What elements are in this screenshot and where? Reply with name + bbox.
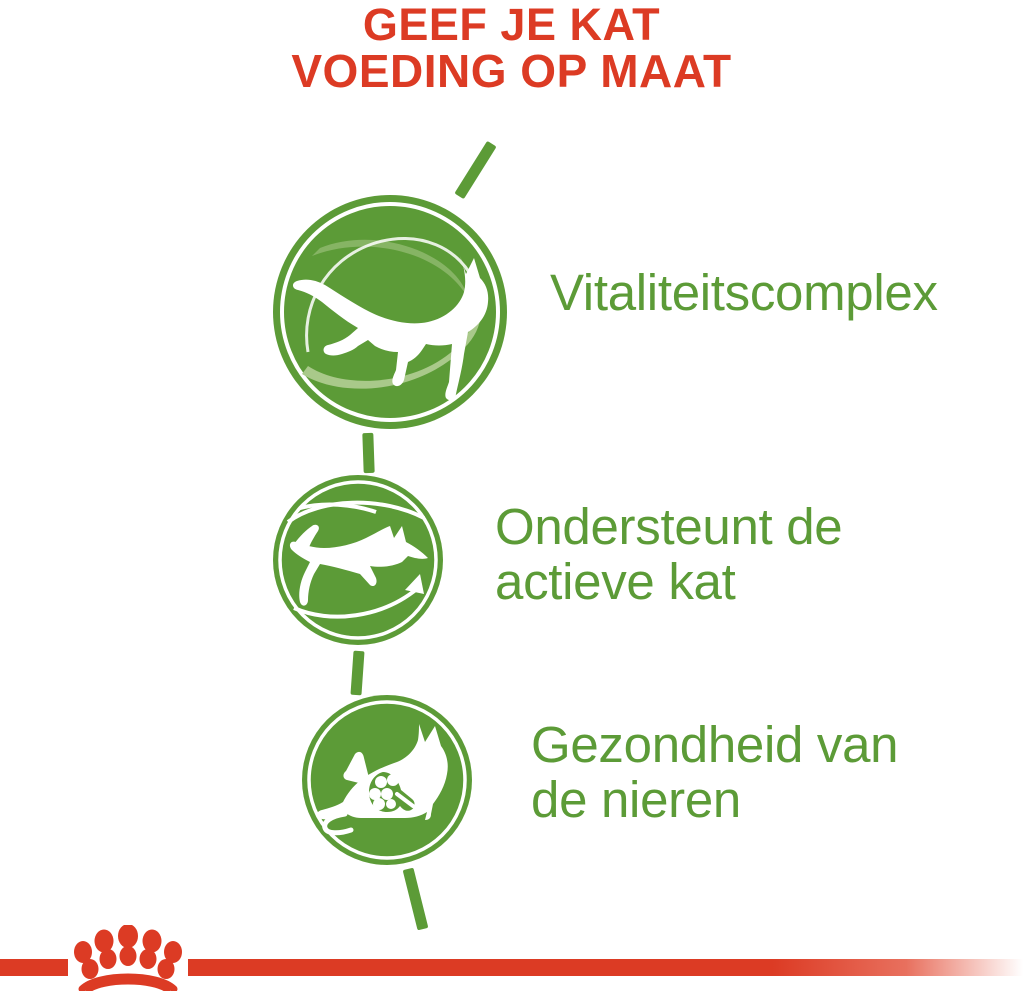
feature-item-vitality: Vitaliteitscomplex [272,194,1012,430]
title-line-2: VOEDING OP MAAT [0,48,1023,95]
feature-label-vitality: Vitaliteitscomplex [550,266,1020,321]
sitting-cat-kidney-circle-icon [301,694,473,871]
walking-cat-circle-icon [272,194,508,435]
connector-dash-1 [362,433,374,473]
feature-item-active-support: Ondersteunt de actieve kat [272,474,972,648]
brand-bar-left [0,959,68,976]
feature-label-kidney-health: Gezondheid van de nieren [531,718,1001,827]
infographic-page: GEEF JE KAT VOEDING OP MAAT Vitaliteitsc… [0,0,1023,994]
feature-item-kidney-health: Gezondheid van de nieren [301,694,1001,868]
connector-dash-top [454,141,496,199]
connector-dash-bottom [403,868,429,931]
title-line-1: GEEF JE KAT [0,2,1023,48]
feature-label-active-support: Ondersteunt de actieve kat [495,500,955,609]
brand-bar-right [188,959,1023,976]
page-title: GEEF JE KAT VOEDING OP MAAT [0,2,1023,95]
connector-dash-2 [350,651,364,696]
leaping-cat-circle-icon [272,474,444,651]
royal-canin-crown-icon [68,925,188,991]
